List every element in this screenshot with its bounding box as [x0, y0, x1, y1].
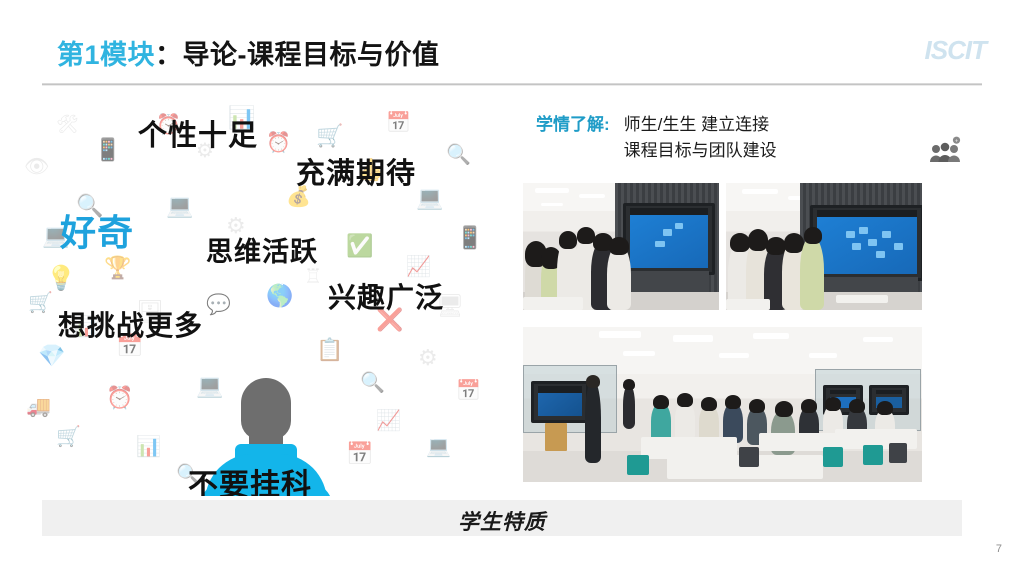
info-lines: 师生/生生 建立连接 课程目标与团队建设: [624, 112, 777, 164]
people-group-icon: +: [928, 136, 962, 164]
info-line-1: 师生/生生 建立连接: [624, 112, 777, 138]
classroom-photo-interactive-display-right: [726, 183, 922, 310]
word-cloud-item-2: 好奇: [60, 204, 134, 256]
page-title: 第1模块：导论-课程目标与价值: [57, 33, 440, 72]
info-row: 学情了解: 师生/生生 建立连接 课程目标与团队建设: [536, 112, 956, 164]
info-line-2: 课程目标与团队建设: [624, 138, 777, 164]
footer-band: 学生特质: [42, 500, 962, 536]
word-cloud-item-4: 兴趣广泛: [328, 276, 444, 316]
page-title-separator: ：: [155, 40, 183, 70]
page-number: 7: [996, 543, 1002, 555]
footer-band-label: 学生特质: [42, 506, 962, 536]
word-cloud-item-5: 想挑战更多: [58, 304, 203, 344]
header-divider: [42, 83, 982, 86]
word-cloud: 👁 💻 🛒 💎 🚚 🛠 📱 🔍 💡 🏆 📊 📅 ⏰ ⚙ 📊 ⏰ 💻 ⚙ 💰 🛒 …: [16, 96, 506, 496]
word-cloud-item-0: 个性十足: [138, 112, 258, 154]
page-title-rest: 导论-课程目标与价值: [183, 40, 440, 70]
page-title-module: 第1模块: [57, 40, 155, 70]
brand-logo: ISCIT: [925, 35, 986, 66]
classroom-photo-group-seating-wide: [523, 327, 922, 482]
word-cloud-item-3: 思维活跃: [206, 230, 318, 269]
photo-row-top: [523, 183, 922, 310]
word-cloud-item-1: 充满期待: [296, 150, 416, 192]
word-cloud-item-6: 不要挂科: [188, 460, 312, 496]
slide-root: 第1模块：导论-课程目标与价值 ISCIT 👁 💻 🛒 💎 🚚 🛠 📱 🔍 💡 …: [0, 0, 1024, 576]
classroom-photo-interactive-display-left: [523, 183, 719, 310]
svg-text:+: +: [955, 138, 959, 144]
info-panel: 学情了解: 师生/生生 建立连接 课程目标与团队建设 +: [536, 112, 956, 164]
info-label: 学情了解:: [536, 112, 624, 138]
